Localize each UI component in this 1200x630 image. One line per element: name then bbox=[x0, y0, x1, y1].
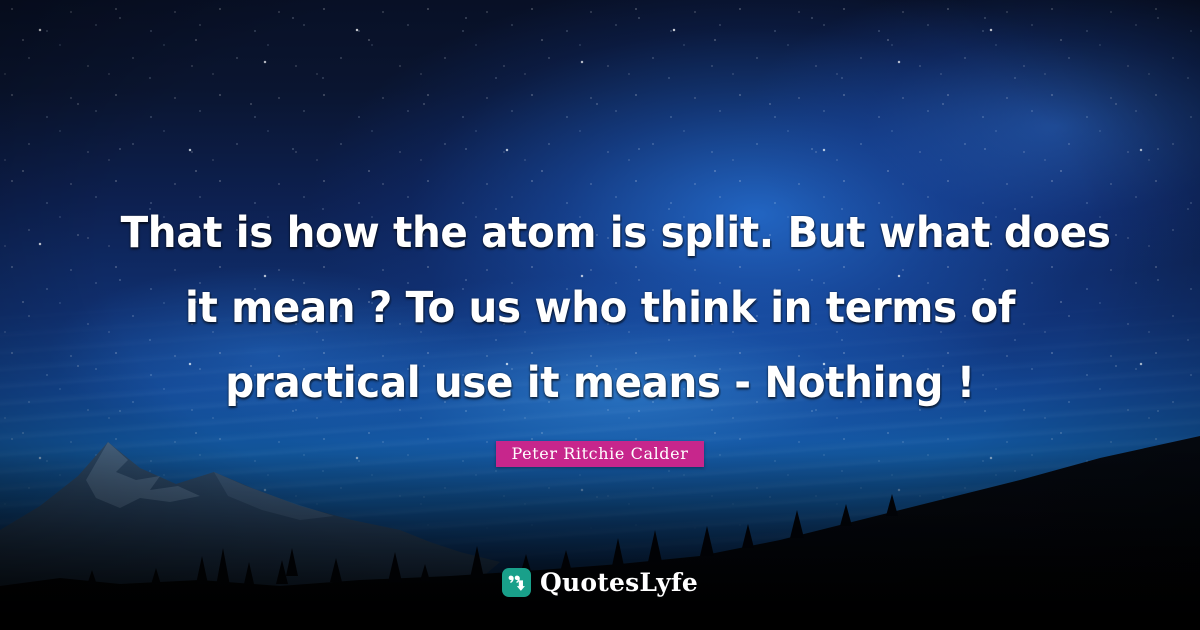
brand-logo: QuotesLyfe bbox=[0, 568, 1200, 597]
quote-line-1: That is how the atom is split. But what … bbox=[121, 196, 1080, 271]
quote-line-3: practical use it means - Nothing ! bbox=[121, 346, 1080, 421]
brand-name: QuotesLyfe bbox=[540, 568, 698, 597]
quote-line-2: it mean ? To us who think in terms of bbox=[121, 271, 1080, 346]
author-badge-container: Peter Ritchie Calder bbox=[0, 441, 1200, 467]
quote-bubble-icon bbox=[502, 568, 531, 597]
quote-text-block: That is how the atom is split. But what … bbox=[0, 196, 1200, 421]
author-name-badge: Peter Ritchie Calder bbox=[496, 441, 705, 467]
quote-card: That is how the atom is split. But what … bbox=[0, 0, 1200, 630]
